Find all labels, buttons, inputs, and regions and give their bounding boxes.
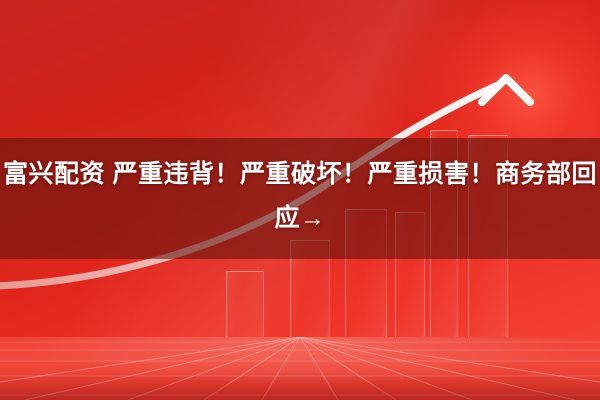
headline-text: 富兴配资 严重违背！严重破坏！严重损害！商务部回应→: [0, 152, 600, 240]
banner-image: 富兴配资 严重违背！严重破坏！严重损害！商务部回应→: [0, 0, 600, 400]
chart-bar: [226, 271, 264, 337]
floor-plane: [0, 337, 600, 400]
floor-vignette: [0, 374, 600, 400]
